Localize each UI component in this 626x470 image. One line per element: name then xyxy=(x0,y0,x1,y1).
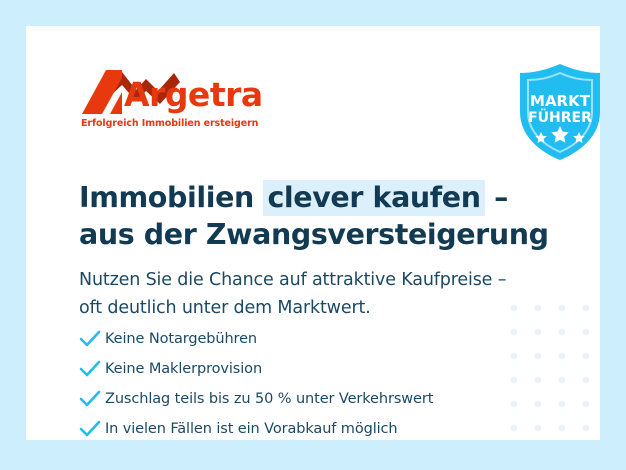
market-leader-badge: MARKT FÜHRER xyxy=(514,62,600,162)
argetra-logo[interactable]: Argetra Erfolgreich Immobilien ersteiger… xyxy=(80,68,260,134)
list-item: Keine Maklerprovision xyxy=(79,354,509,384)
headline-line1-before: Immobilien xyxy=(79,181,263,214)
list-item: Zuschlag teils bis zu 50 % unter Verkehr… xyxy=(79,384,509,414)
check-icon xyxy=(79,330,105,348)
headline-line1-after: – xyxy=(485,181,508,214)
logo-wordmark: Argetra xyxy=(124,78,263,111)
list-item-label: Zuschlag teils bis zu 50 % unter Verkehr… xyxy=(105,391,433,407)
subheading-line2: oft deutlich unter dem Marktwert. xyxy=(79,298,371,318)
check-icon xyxy=(79,420,105,438)
headline-line2: aus der Zwangsversteigerung xyxy=(79,218,549,251)
list-item-label: Keine Notargebühren xyxy=(105,331,257,347)
headline-highlight: clever kaufen xyxy=(263,180,484,216)
banner-card: Argetra Erfolgreich Immobilien ersteiger… xyxy=(26,26,600,440)
promo-banner: Argetra Erfolgreich Immobilien ersteiger… xyxy=(0,0,626,470)
check-icon xyxy=(79,360,105,378)
list-item-label: Keine Maklerprovision xyxy=(105,361,262,377)
logo-tagline: Erfolgreich Immobilien ersteigern xyxy=(81,118,258,129)
badge-line2-text: FÜHRER xyxy=(528,108,592,126)
list-item-label: In vielen Fällen ist ein Vorabkauf mögli… xyxy=(105,421,398,437)
subheading: Nutzen Sie die Chance auf attraktive Kau… xyxy=(79,266,559,322)
badge-line1-text: MARKT xyxy=(530,92,591,110)
subheading-line1: Nutzen Sie die Chance auf attraktive Kau… xyxy=(79,270,506,290)
list-item: In vielen Fällen ist ein Vorabkauf mögli… xyxy=(79,414,509,440)
check-icon xyxy=(79,390,105,408)
list-item: Keine Notargebühren xyxy=(79,324,509,354)
benefits-list: Keine Notargebühren Keine Maklerprovisio… xyxy=(79,324,509,440)
page-title: Immobilien clever kaufen – aus der Zwang… xyxy=(79,179,549,253)
